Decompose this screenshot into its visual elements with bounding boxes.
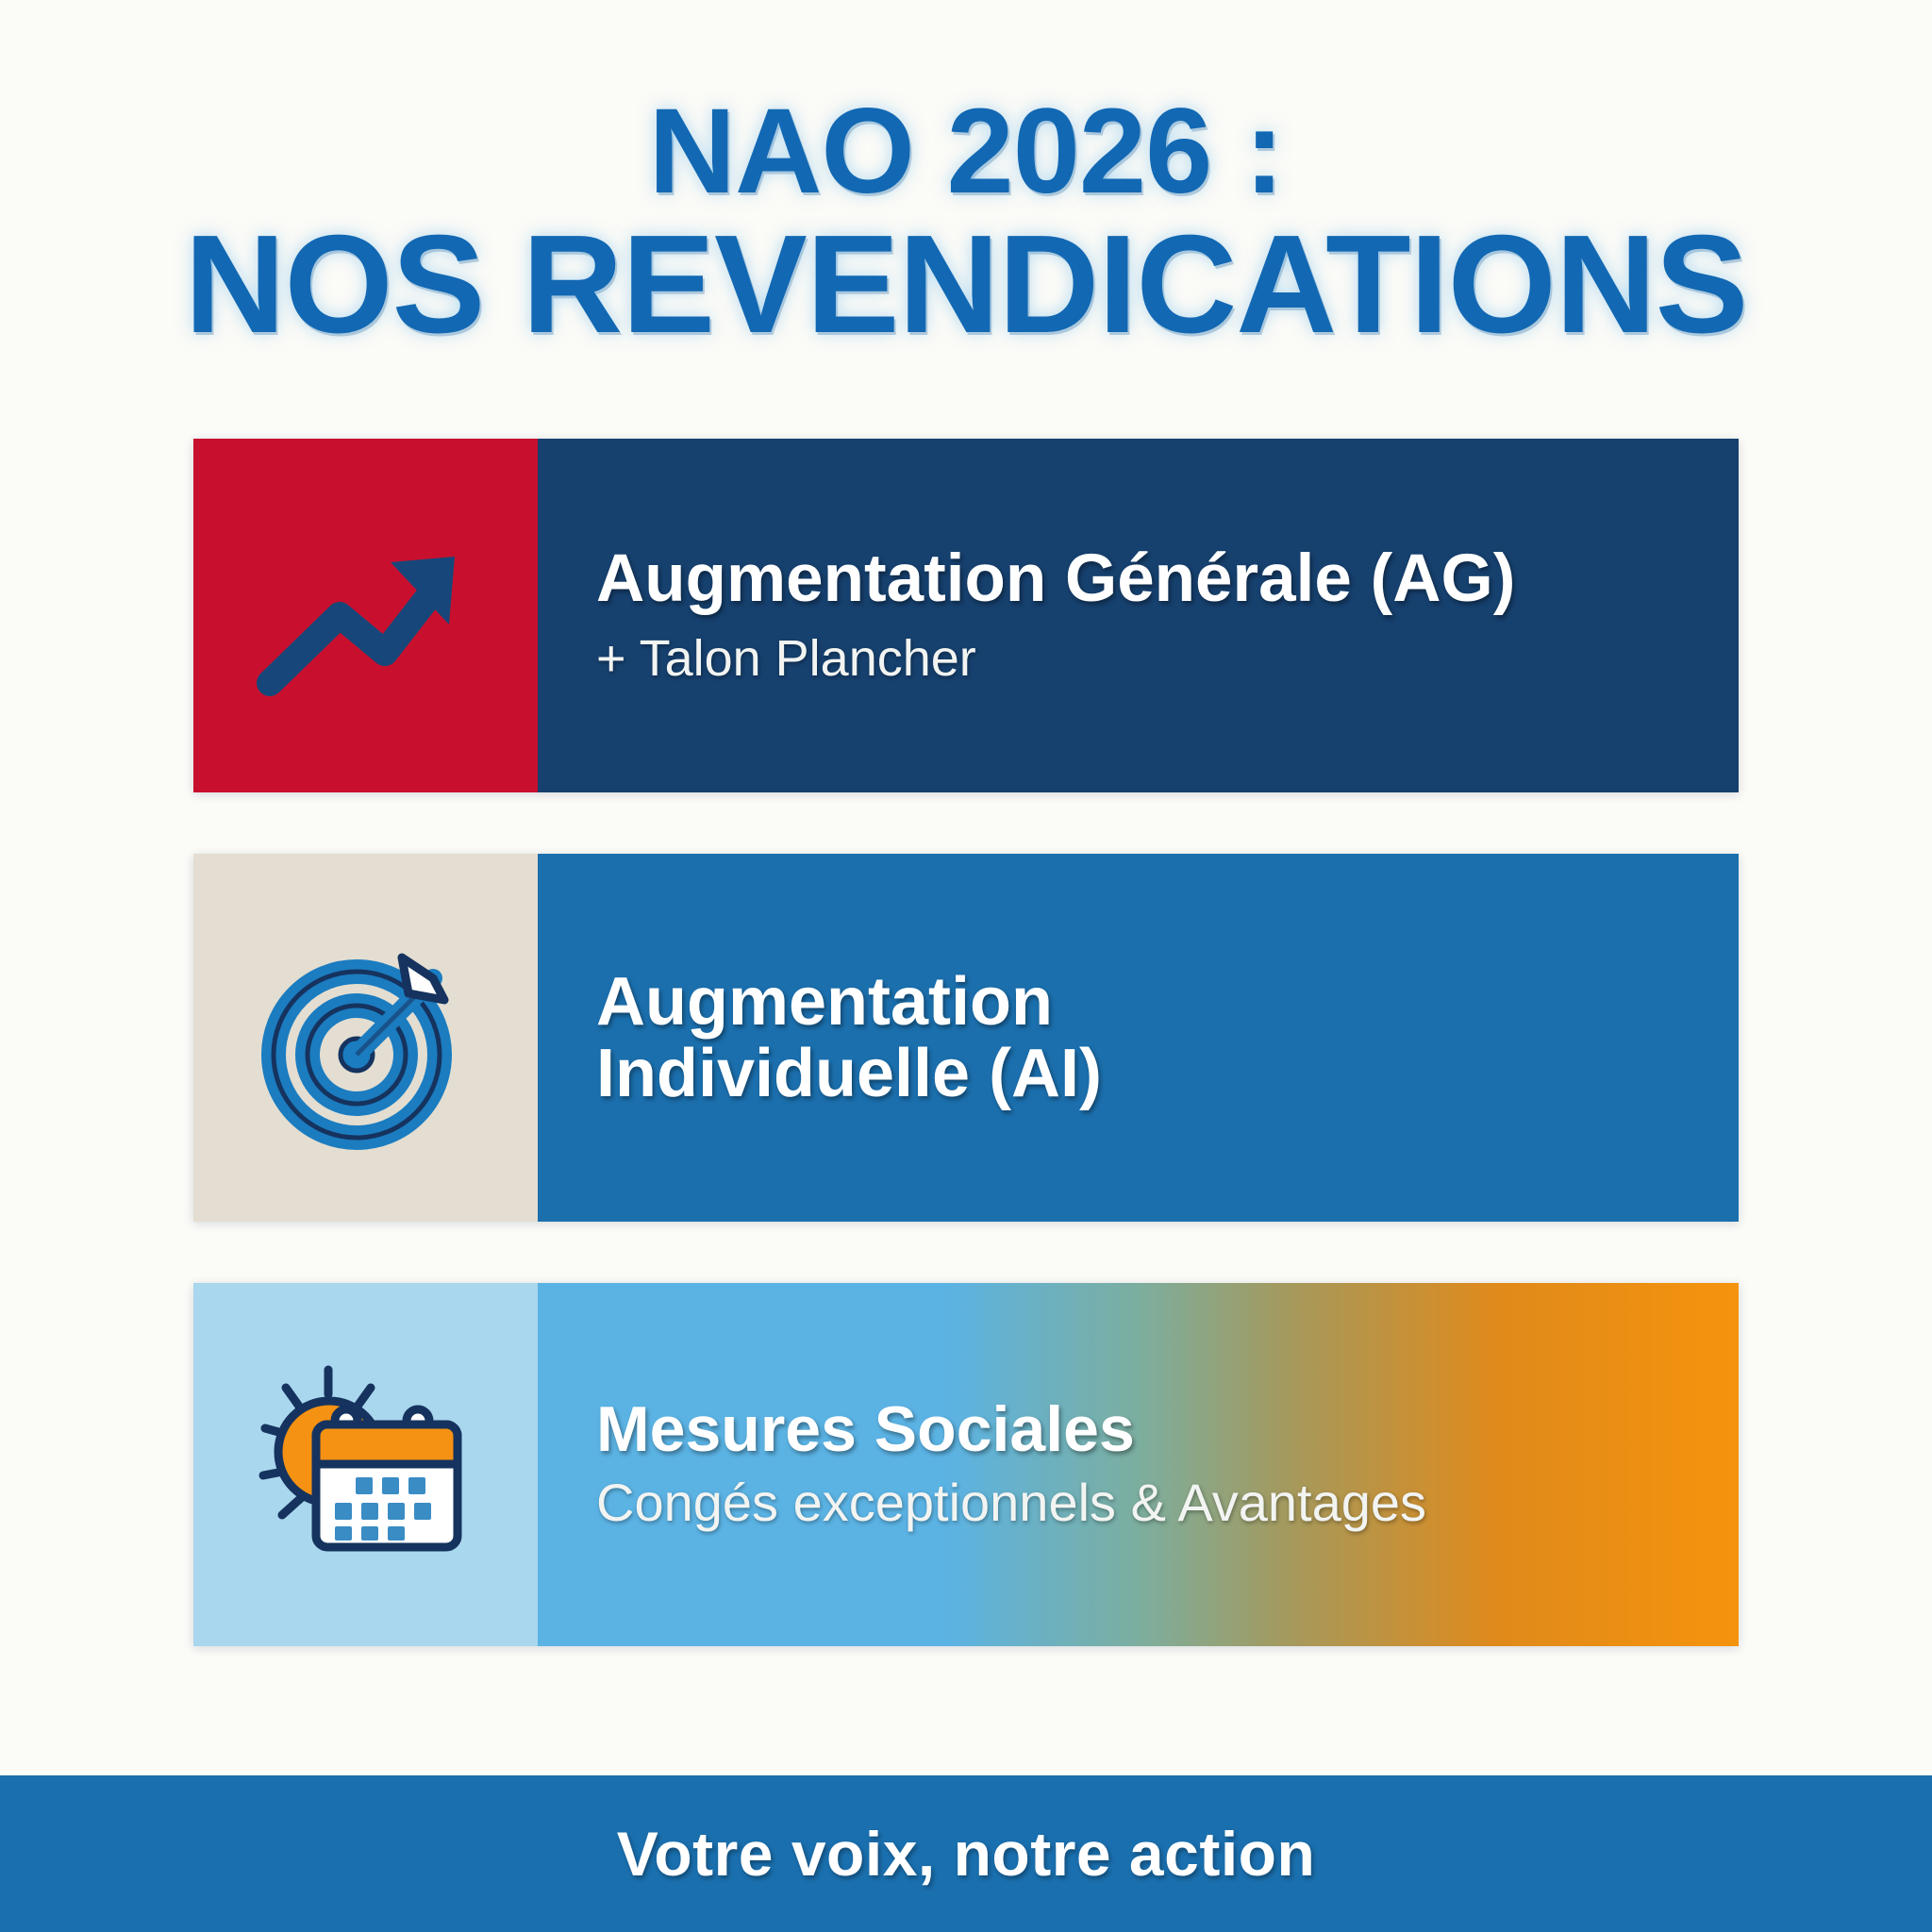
- demand-card-augmentation-individuelle[interactable]: Augmentation Individuelle (AI): [193, 854, 1739, 1222]
- card-2-title-line-2: Individuelle (AI): [596, 1038, 1686, 1109]
- poster-canvas: NAO 2026 : NOS REVENDICATIONS Augmentati…: [0, 0, 1932, 1932]
- card-2-title-line-1: Augmentation: [596, 966, 1686, 1038]
- card-3-subtitle: Congés exceptionnels & Avantages: [596, 1473, 1686, 1533]
- card-1-title: Augmentation Générale (AG): [596, 543, 1686, 614]
- footer-banner: Votre voix, notre action: [0, 1775, 1932, 1932]
- page-title: NAO 2026 : NOS REVENDICATIONS: [0, 91, 1932, 357]
- card-3-body: Mesures Sociales Congés exceptionnels & …: [538, 1283, 1739, 1646]
- card-1-icon-panel: [193, 439, 538, 792]
- card-2-icon-panel: [193, 854, 538, 1222]
- target-bullseye-arrow-icon: [248, 920, 484, 1156]
- title-line-2: NOS REVENDICATIONS: [0, 214, 1932, 357]
- card-3-icon-panel: [193, 1283, 538, 1646]
- demand-card-mesures-sociales[interactable]: Mesures Sociales Congés exceptionnels & …: [193, 1283, 1739, 1646]
- demand-card-augmentation-generale[interactable]: Augmentation Générale (AG) + Talon Planc…: [193, 439, 1739, 792]
- card-2-body: Augmentation Individuelle (AI): [538, 854, 1739, 1222]
- footer-slogan: Votre voix, notre action: [617, 1818, 1316, 1890]
- title-line-1: NAO 2026 :: [0, 91, 1932, 214]
- card-1-body: Augmentation Générale (AG) + Talon Planc…: [538, 439, 1739, 792]
- sun-calendar-icon: [248, 1357, 484, 1574]
- card-3-title: Mesures Sociales: [596, 1395, 1686, 1463]
- trending-up-arrow-icon: [253, 526, 479, 706]
- card-1-subtitle: + Talon Plancher: [596, 629, 1686, 688]
